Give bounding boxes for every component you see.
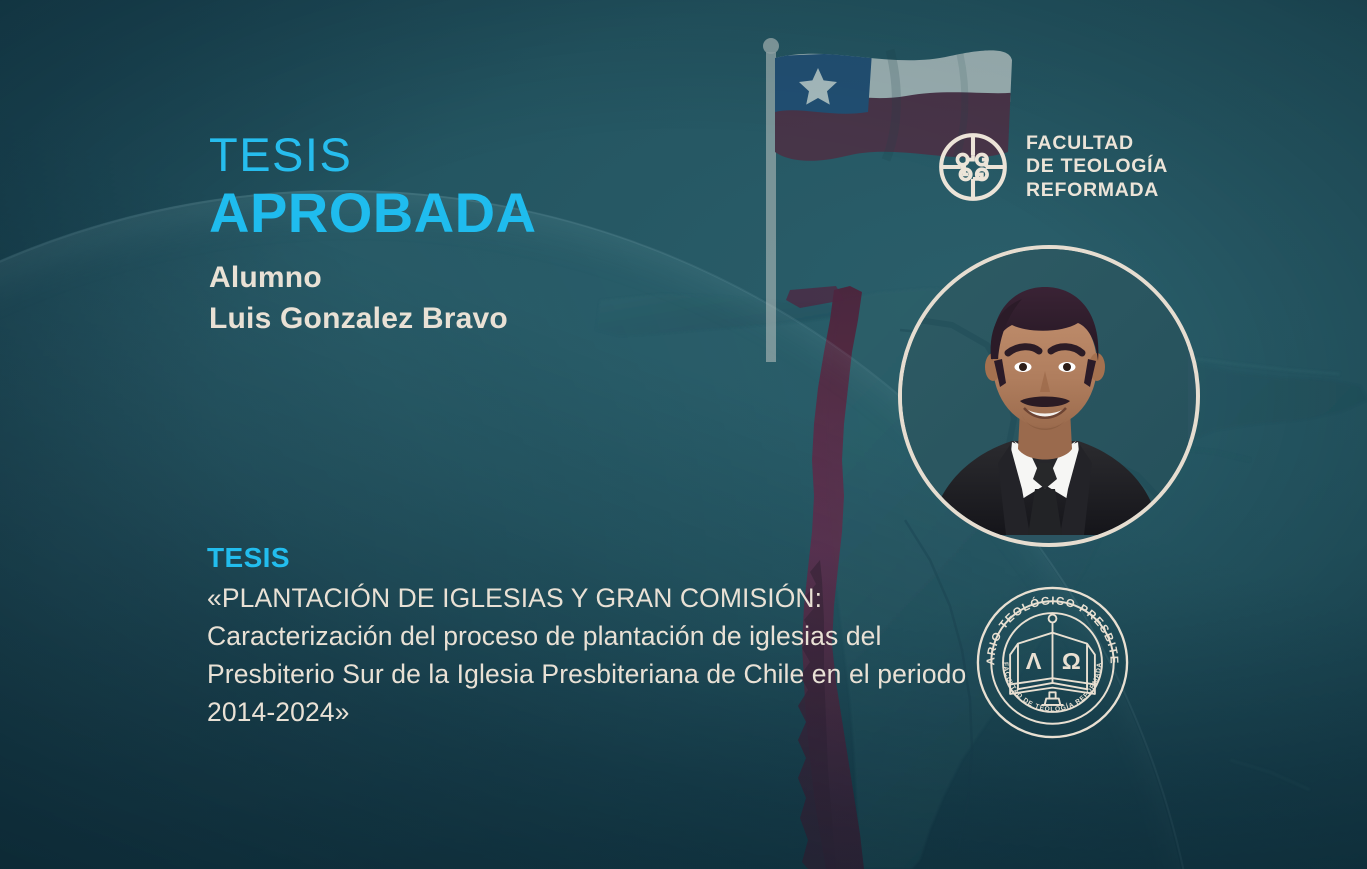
circle-cross-nodes-icon — [936, 130, 1010, 204]
headline-line-1: TESIS — [209, 131, 537, 178]
thesis-block: TESIS «PLANTACIÓN DE IGLESIAS Y GRAN COM… — [207, 542, 967, 732]
avatar — [898, 245, 1200, 547]
faculty-wordmark-line-3: REFORMADA — [1026, 179, 1168, 202]
headline-line-2: APROBADA — [209, 185, 537, 241]
student-label: Alumno — [209, 258, 508, 299]
seal-alpha: Λ — [1026, 648, 1042, 674]
seal-omega: Ω — [1062, 648, 1081, 674]
student-block: Alumno Luis Gonzalez Bravo — [209, 258, 508, 340]
faculty-wordmark-line-2: DE TEOLOGÍA — [1026, 155, 1168, 178]
page-title: TESIS APROBADA — [209, 131, 537, 241]
thesis-approved-slide: TESIS APROBADA Alumno Luis Gonzalez Brav… — [0, 0, 1367, 869]
portrait-photo — [902, 249, 1188, 535]
thesis-label: TESIS — [207, 542, 967, 574]
faculty-wordmark-line-1: FACULTAD — [1026, 132, 1168, 155]
thesis-title: «PLANTACIÓN DE IGLESIAS Y GRAN COMISIÓN:… — [207, 580, 967, 732]
open-book-alpha-omega-icon — [1010, 615, 1095, 705]
seal-outer-text: SEMINARIO TEOLÓGICO PRESBITERIANO — [974, 584, 1120, 665]
seminary-seal-icon: SEMINARIO TEOLÓGICO PRESBITERIANO · FACU… — [974, 584, 1131, 741]
faculty-wordmark: FACULTAD DE TEOLOGÍA REFORMADA — [1026, 132, 1168, 202]
faculty-logo: FACULTAD DE TEOLOGÍA REFORMADA — [936, 130, 1168, 204]
student-name: Luis Gonzalez Bravo — [209, 299, 508, 340]
